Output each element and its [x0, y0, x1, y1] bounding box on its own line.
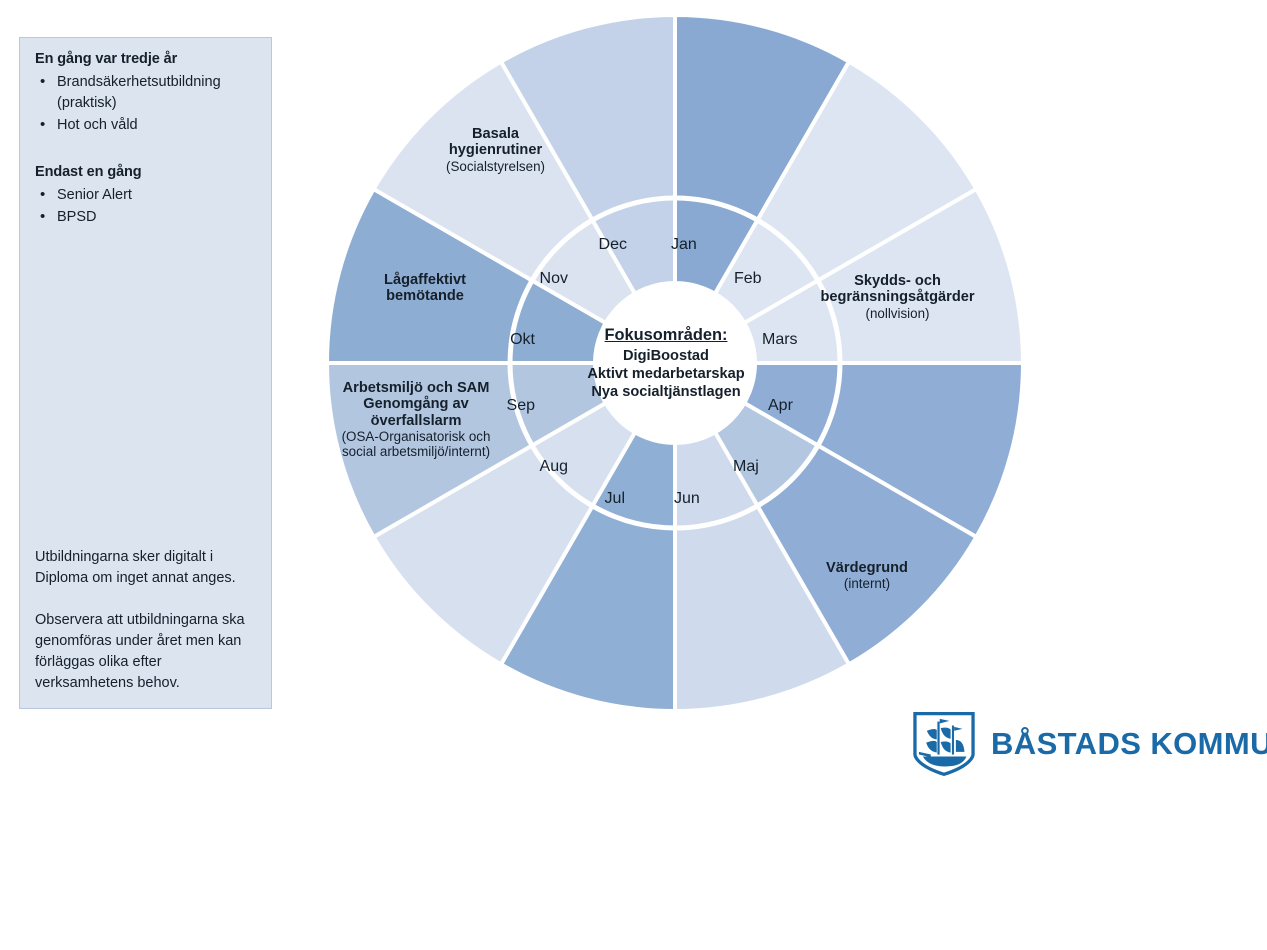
heading-once: Endast en gång — [35, 164, 142, 180]
list-triennial: Brandsäkerhetsutbildning (praktisk) Hot … — [35, 72, 260, 137]
note-scheduling: Observera att utbildningarna ska genomfö… — [35, 610, 253, 694]
list-item: Senior Alert — [35, 185, 260, 206]
info-panel: En gång var tredje år Brandsäkerhetsutbi… — [19, 37, 272, 709]
bastads-kommun-logo: BÅSTADS KOMMUN — [911, 711, 1267, 777]
list-item: Brandsäkerhetsutbildning (praktisk) — [35, 72, 260, 114]
sailing-ship-crest-icon — [911, 711, 977, 777]
note-digital-training: Utbildningarna sker digitalt i Diploma o… — [35, 547, 253, 589]
wheel-svg — [320, 8, 1030, 718]
heading-triennial: En gång var tredje år — [35, 51, 177, 67]
logo-wordmark: BÅSTADS KOMMUN — [991, 726, 1267, 762]
list-item: Hot och våld — [35, 115, 260, 136]
list-once: Senior Alert BPSD — [35, 185, 260, 229]
training-wheel-chart: Basala hygienrutiner (Socialstyrelsen) S… — [320, 8, 1030, 718]
list-item: BPSD — [35, 207, 260, 228]
hub-circle — [595, 283, 755, 443]
